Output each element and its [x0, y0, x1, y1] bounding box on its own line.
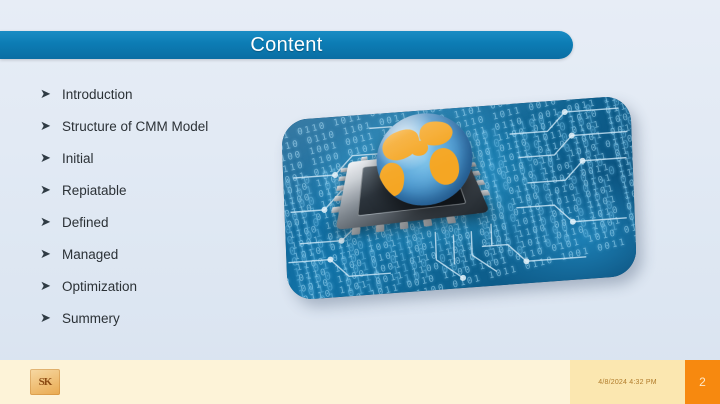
- arrow-bullet-icon: ➤: [40, 151, 62, 164]
- page-title: Content: [0, 31, 573, 59]
- arrow-bullet-icon: ➤: [40, 215, 62, 228]
- footer-page-block: 2: [685, 360, 720, 404]
- brand-logo[interactable]: SK: [30, 369, 60, 395]
- footer-date: 4/8/2024 4:32 PM: [598, 379, 656, 386]
- slide-image-area: 01101001 0110 1011 0010 1100 1001 0110 0…: [262, 96, 654, 321]
- arrow-bullet-icon: ➤: [40, 119, 62, 132]
- list-item-label: Repiatable: [62, 184, 127, 198]
- slide-footer: SK 4/8/2024 4:32 PM 2: [0, 360, 720, 404]
- list-item-label: Optimization: [62, 280, 137, 294]
- image-gloss-overlay: [281, 95, 637, 301]
- list-item-label: Initial: [62, 152, 94, 166]
- list-item[interactable]: ➤ Summery: [40, 312, 290, 344]
- list-item[interactable]: ➤ Defined: [40, 216, 290, 248]
- page-number: 2: [699, 375, 706, 389]
- list-item-label: Managed: [62, 248, 118, 262]
- arrow-bullet-icon: ➤: [40, 279, 62, 292]
- list-item[interactable]: ➤ Managed: [40, 248, 290, 280]
- content-bullet-list: ➤ Introduction ➤ Structure of CMM Model …: [40, 88, 290, 344]
- list-item[interactable]: ➤ Initial: [40, 152, 290, 184]
- arrow-bullet-icon: ➤: [40, 183, 62, 196]
- arrow-bullet-icon: ➤: [40, 311, 62, 324]
- slide: Content ➤ Introduction ➤ Structure of CM…: [0, 0, 720, 404]
- list-item-label: Structure of CMM Model: [62, 120, 208, 134]
- list-item[interactable]: ➤ Structure of CMM Model: [40, 120, 290, 152]
- arrow-bullet-icon: ➤: [40, 87, 62, 100]
- arrow-bullet-icon: ➤: [40, 247, 62, 260]
- footer-date-block: 4/8/2024 4:32 PM: [570, 360, 685, 404]
- list-item-label: Defined: [62, 216, 109, 230]
- list-item-label: Summery: [62, 312, 120, 326]
- circuit-board-globe-image[interactable]: 01101001 0110 1011 0010 1100 1001 0110 0…: [281, 95, 637, 301]
- list-item[interactable]: ➤ Optimization: [40, 280, 290, 312]
- list-item-label: Introduction: [62, 88, 133, 102]
- list-item[interactable]: ➤ Repiatable: [40, 184, 290, 216]
- slide-title-bar: Content: [0, 31, 573, 59]
- list-item[interactable]: ➤ Introduction: [40, 88, 290, 120]
